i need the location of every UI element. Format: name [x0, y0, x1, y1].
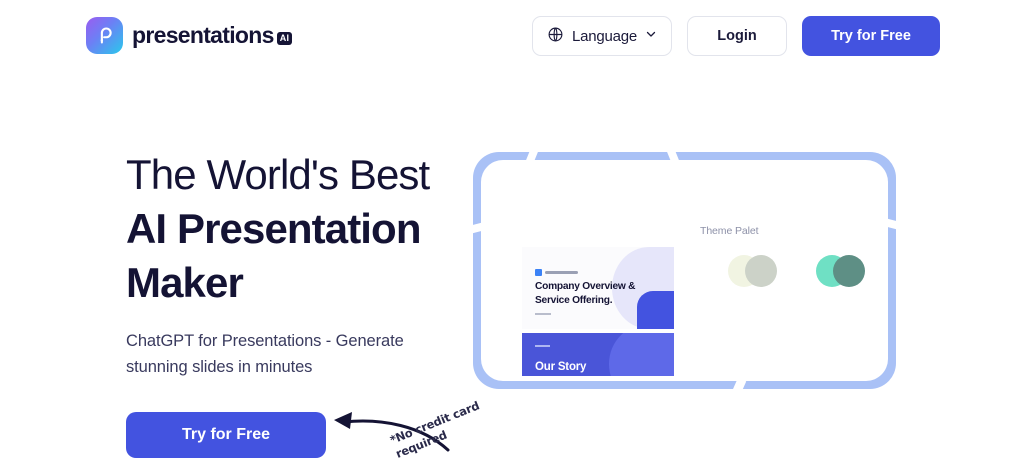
hero-copy: The World's Best AI Presentation Maker C…	[126, 148, 456, 380]
curved-arrow-icon	[330, 404, 500, 471]
headline-line-2: AI Presentation	[126, 202, 456, 256]
try-for-free-header-button[interactable]: Try for Free	[802, 16, 940, 56]
language-selector[interactable]: Language	[532, 16, 672, 56]
hero-subtitle-line-1: ChatGPT for Presentations - Generate	[126, 332, 404, 350]
theme-palette-label: Theme Palet	[700, 225, 883, 237]
slide-1-title: Company Overview & Service Offering.	[535, 280, 651, 307]
theme-swatch-1-front	[745, 255, 777, 287]
slide-1-logo-square	[535, 269, 542, 276]
brand-logo[interactable]: presentations AI	[86, 17, 292, 54]
globe-icon	[547, 26, 564, 47]
brand-name: presentations	[132, 24, 274, 47]
p-logo-icon	[86, 17, 123, 54]
slide-2-wave-shape	[609, 333, 674, 376]
landing-page: presentations AI Language	[0, 0, 1024, 471]
slide-2-rule	[535, 345, 550, 347]
theme-palette-panel: Theme Palet	[700, 225, 883, 289]
slide-1-rule	[535, 313, 551, 315]
brand-ai-badge: AI	[277, 32, 293, 45]
headline-line-3: Maker	[126, 256, 456, 310]
try-for-free-hero-button[interactable]: Try for Free	[126, 412, 326, 458]
theme-swatch-2-front	[833, 255, 865, 287]
slide-card-our-story[interactable]: Our Story We believe in the power of vis…	[522, 333, 674, 376]
slide-2-title: Our Story	[535, 361, 586, 373]
login-button[interactable]: Login	[687, 16, 787, 56]
hero-cta-row: Try for Free	[126, 412, 326, 458]
chevron-down-icon	[645, 28, 657, 44]
theme-palette-swatches	[700, 255, 883, 289]
annotation-text: *No credit card required	[388, 389, 511, 462]
product-preview-device: Company Overview & Service Offering. Our…	[473, 152, 896, 389]
slide-1-logo-chip	[535, 269, 578, 276]
no-credit-card-annotation: *No credit card required	[330, 404, 500, 471]
device-screen: Company Overview & Service Offering. Our…	[486, 165, 883, 376]
site-header: presentations AI Language	[0, 0, 1024, 72]
hero-subtitle: ChatGPT for Presentations - Generate stu…	[126, 328, 436, 380]
hero-subtitle-line-2: stunning slides in minutes	[126, 358, 312, 376]
slide-1-logo-bar	[545, 271, 578, 274]
header-actions: Language Login Try for Free	[532, 16, 940, 56]
headline-line-1: The World's Best	[126, 148, 456, 202]
slide-card-company-overview[interactable]: Company Overview & Service Offering.	[522, 247, 674, 329]
language-label: Language	[572, 28, 637, 45]
